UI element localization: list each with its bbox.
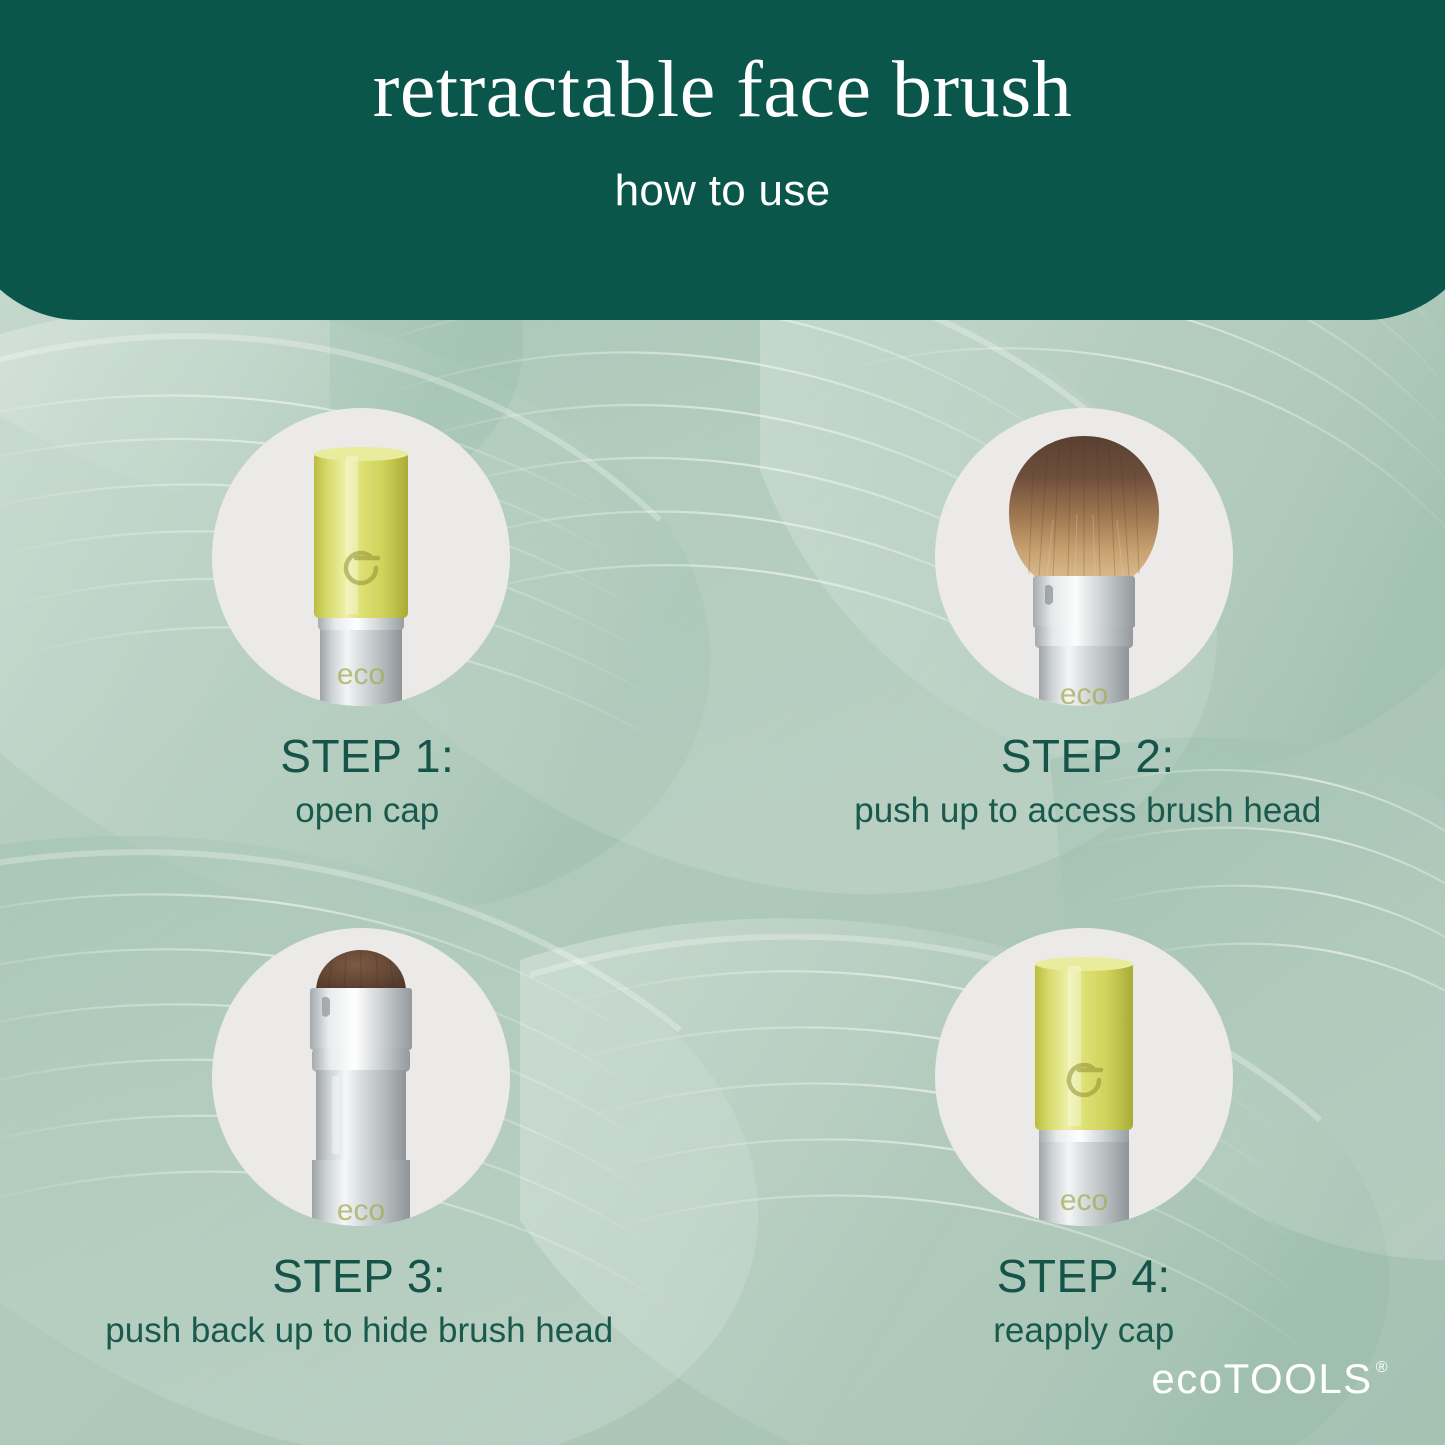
step-description-4: reapply cap (993, 1312, 1174, 1351)
step-heading-1: STEP 1: (280, 732, 454, 780)
step-heading-3: STEP 3: (105, 1252, 613, 1300)
step-description-1: open cap (280, 792, 454, 831)
step-image-3: eco (212, 928, 510, 1226)
step-caption-2: STEP 2: push up to access brush head (854, 732, 1321, 831)
svg-text:eco: eco (337, 1194, 385, 1226)
page-title: retractable face brush (373, 50, 1072, 130)
registered-trademark-icon: ® (1376, 1359, 1389, 1377)
disc-background-3: eco (212, 928, 510, 1226)
steps-grid: eco STEP 1: open cap (0, 330, 1445, 1370)
svg-text:eco: eco (337, 658, 385, 691)
brush-head-extended-icon: eco (935, 408, 1233, 706)
step-image-2: eco (935, 408, 1233, 706)
brush-head-retracted-icon: eco (212, 928, 510, 1226)
brand-tools: TOOLS (1224, 1355, 1373, 1403)
step-heading-2: STEP 2: (854, 732, 1321, 780)
step-caption-3: STEP 3: push back up to hide brush head (105, 1252, 613, 1351)
disc-background-1: eco (212, 408, 510, 706)
svg-text:eco: eco (1060, 1184, 1108, 1217)
step-description-3: push back up to hide brush head (105, 1312, 613, 1351)
brush-capped-reapplied-icon: eco (935, 928, 1233, 1226)
step-image-1: eco (212, 408, 510, 706)
ecotools-logo: eco TOOLS ® (1151, 1355, 1389, 1403)
step-card-4: eco STEP 4: reapply cap (723, 850, 1445, 1370)
step-image-4: eco (935, 928, 1233, 1226)
header-panel: retractable face brush how to use (0, 0, 1445, 320)
step-card-2: eco STEP 2: push up to access brush head (723, 330, 1445, 850)
disc-background-2: eco (935, 408, 1233, 706)
page-subtitle: how to use (615, 166, 831, 216)
brush-capped-closed-icon: eco (212, 408, 510, 706)
step-heading-4: STEP 4: (993, 1252, 1174, 1300)
brand-eco: eco (1151, 1355, 1223, 1403)
disc-background-4: eco (935, 928, 1233, 1226)
step-card-3: eco STEP 3: push back up to hide brush h… (0, 850, 723, 1370)
svg-text:eco: eco (1060, 678, 1108, 706)
step-caption-4: STEP 4: reapply cap (993, 1252, 1174, 1351)
step-caption-1: STEP 1: open cap (280, 732, 454, 831)
step-card-1: eco STEP 1: open cap (0, 330, 723, 850)
step-description-2: push up to access brush head (854, 792, 1321, 831)
